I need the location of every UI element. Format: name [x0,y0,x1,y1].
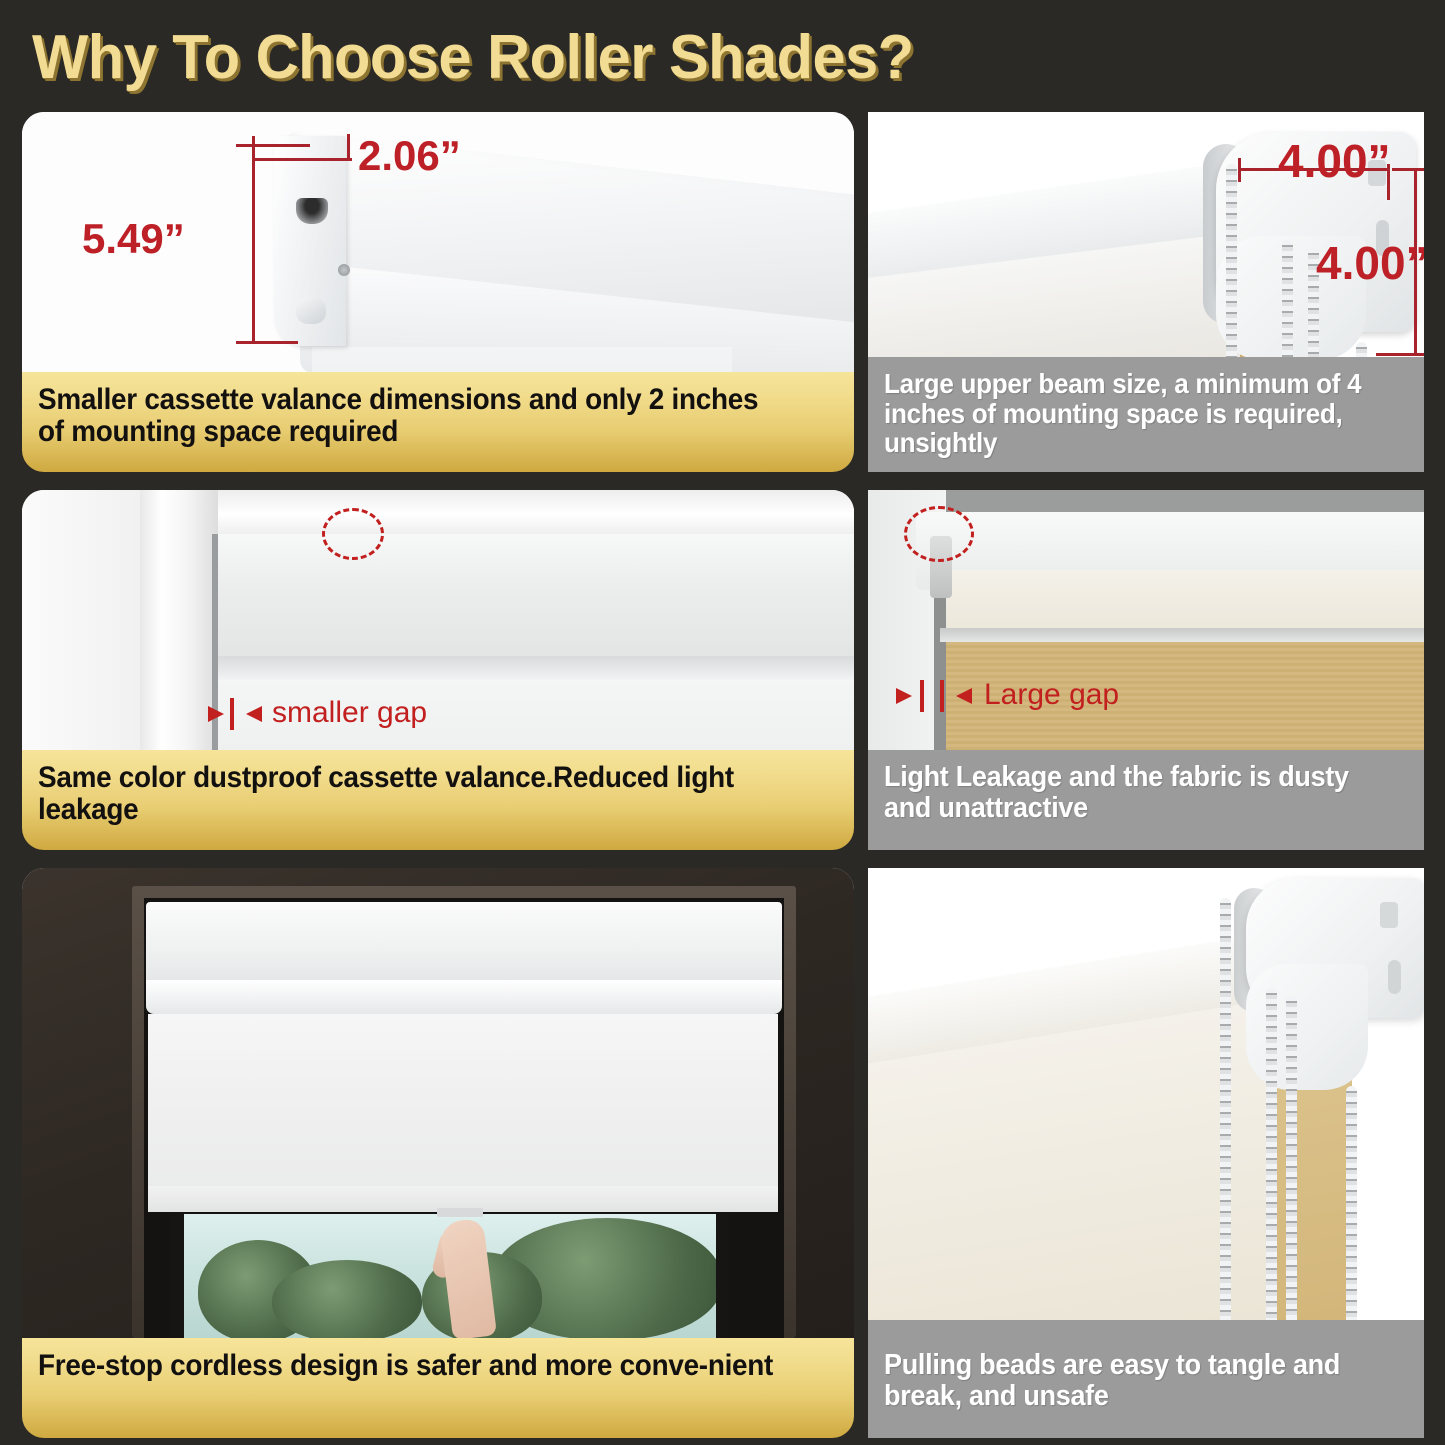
page-header: Why To Choose Roller Shades? [0,0,1445,112]
window-head-trim [140,490,854,534]
wall-surface [22,490,150,750]
panel-5: Free-stop cordless design is safer and m… [22,868,854,1438]
height-dimension-label: 5.49” [82,215,185,263]
panel-4-body: Large gap Light Leakage and the fabric i… [868,490,1424,850]
panel-6: Pulling beads are easy to tangle and bre… [868,868,1424,1438]
panel-2-image: 4.00” 4.00” [868,112,1424,357]
panel-2-caption: Large upper beam size, a minimum of 4 in… [868,357,1424,472]
cassette-valance-lip [146,980,782,1014]
bead-chain-4 [1356,342,1367,357]
comparison-grid: 2.06” 5.49” Smaller cassette valance dim… [0,112,1445,1445]
cassette-valance [218,534,854,662]
panel-1-image: 2.06” 5.49” [22,112,854,372]
panel-5-image [22,868,854,1338]
gap-label: smaller gap [272,696,427,730]
panel-1-body: 2.06” 5.49” Smaller cassette valance dim… [22,112,854,472]
highlight-ellipse-icon [904,506,974,562]
panel-6-image [868,868,1424,1338]
window-mullion-right [716,1214,730,1338]
gap-marker-a [920,680,924,712]
bead-chain-1 [1226,164,1237,357]
width-dim-line [252,158,352,161]
pull-tab [437,1208,483,1217]
panel-5-caption-text: Free-stop cordless design is safer and m… [38,1350,782,1382]
bracket-socket [296,198,328,224]
bracket-knob [296,296,326,324]
panel-6-caption-text: Pulling beads are easy to tangle and bre… [884,1350,1371,1411]
panel-2-caption-text: Large upper beam size, a minimum of 4 in… [884,369,1371,458]
panel-2: 4.00” 4.00” Large upper beam size, a min… [868,112,1424,472]
gap-arrow-left-icon [208,706,224,722]
panel-3-caption-text: Same color dustproof cassette valance.Re… [38,762,782,826]
height-dim-tick-bottom [236,341,298,344]
gap-arrow-right-icon [246,706,262,722]
panel-1-caption-text: Smaller cassette valance dimensions and … [38,384,782,448]
panel-4-image: Large gap [868,490,1424,750]
width-dim-tick-left [1238,158,1241,182]
page-title: Why To Choose Roller Shades? [32,22,914,93]
height-dim-tick-top [1392,168,1424,171]
panel-5-caption: Free-stop cordless design is safer and m… [22,1338,854,1438]
panel-3-caption: Same color dustproof cassette valance.Re… [22,750,854,850]
width-dimension-label: 2.06” [358,132,461,180]
mounting-bracket-lower [1246,964,1368,1090]
shade-fabric [148,1014,778,1210]
gap-label: Large gap [984,678,1119,712]
bracket-screw [338,264,350,276]
upper-beam-lower [946,570,1424,632]
panel-5-body: Free-stop cordless design is safer and m… [22,868,854,1438]
panel-2-body: 4.00” 4.00” Large upper beam size, a min… [868,112,1424,472]
tree-mid-left [272,1260,422,1338]
gap-marker-b [940,680,944,712]
panel-4-caption-text: Light Leakage and the fabric is dusty an… [884,762,1371,823]
bracket-slot-upper [1380,902,1398,928]
width-dim-tick-right [347,134,350,160]
panel-1-caption: Smaller cassette valance dimensions and … [22,372,854,472]
width-dimension-label: 4.00” [1278,134,1391,188]
panel-1: 2.06” 5.49” Smaller cassette valance dim… [22,112,854,472]
bottom-shadow-strip [868,1320,1424,1338]
bead-chain-2 [1282,240,1293,357]
panel-6-caption: Pulling beads are easy to tangle and bre… [868,1338,1424,1438]
valance-rail [218,656,854,680]
highlight-ellipse-icon [322,508,384,560]
cassette-valance [146,902,782,986]
height-dim-tick-bottom [1376,353,1424,356]
bead-chain-4 [1346,1086,1357,1338]
gap-arrow-left-icon [896,688,912,704]
height-dimension-label: 4.00” [1316,236,1424,290]
gap-arrow-right-icon [956,688,972,704]
panel-6-body: Pulling beads are easy to tangle and bre… [868,868,1424,1438]
panel-3: smaller gap Same color dustproof cassett… [22,490,854,850]
bead-chain-3 [1286,996,1297,1338]
panel-4: Large gap Light Leakage and the fabric i… [868,490,1424,850]
shade-fabric [312,347,732,372]
window-mullion-left [170,1214,184,1338]
panel-3-image: smaller gap [22,490,854,750]
bracket-slot-lower [1388,960,1401,994]
gap-marker [230,698,234,730]
bead-chain-2 [1266,988,1277,1338]
window-jamb-trim [140,490,218,750]
height-dim-line [252,144,255,344]
beam-rail [940,628,1424,642]
height-dim-tick-top [236,144,298,147]
panel-4-caption: Light Leakage and the fabric is dusty an… [868,750,1424,850]
panel-3-body: smaller gap Same color dustproof cassett… [22,490,854,850]
bead-chain-1 [1220,898,1231,1338]
